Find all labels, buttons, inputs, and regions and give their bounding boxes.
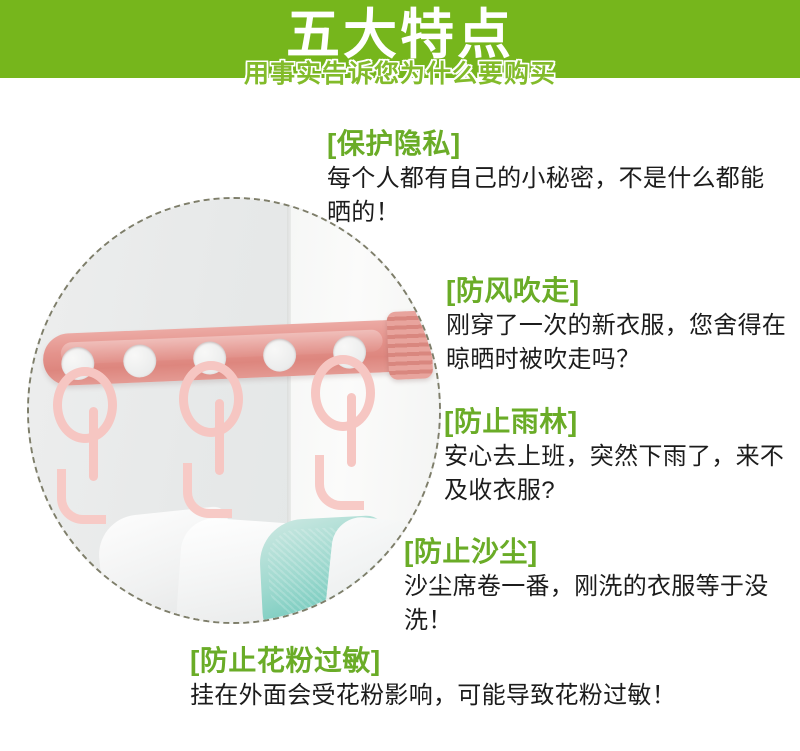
feature-title: [防止雨林] — [444, 404, 794, 440]
feature-block-privacy: [保护隐私] 每个人都有自己的小秘密，不是什么都能晒的！ — [327, 126, 787, 230]
hook-tail-3 — [315, 455, 364, 510]
hook-ring-2 — [179, 361, 243, 437]
feature-body: 挂在外面会受花粉影响，可能导致花粉过敏！ — [190, 679, 790, 713]
hook-ring-1 — [53, 367, 117, 443]
hook-tail-2 — [183, 463, 232, 518]
feature-body: 每个人都有自己的小秘密，不是什么都能晒的！ — [327, 162, 787, 230]
feature-title: [防风吹走] — [446, 273, 796, 309]
promo-page: 五大特点 用事实告诉您为什么要购买 — [0, 0, 800, 751]
hook-ring-3 — [311, 355, 375, 431]
feature-title: [防止沙尘] — [404, 534, 794, 570]
feature-block-windproof: [防风吹走] 刚穿了一次的新衣服，您舍得在晾晒时被吹走吗？ — [446, 273, 796, 377]
feature-block-pollen: [防止花粉过敏] 挂在外面会受花粉影响，可能导致花粉过敏！ — [190, 643, 790, 713]
page-title: 五大特点 — [0, 4, 800, 66]
feature-title: [保护隐私] — [327, 126, 787, 162]
feature-body: 沙尘席卷一番，刚洗的衣服等于没洗！ — [404, 570, 794, 638]
feature-title: [防止花粉过敏] — [190, 643, 790, 679]
feature-body: 安心去上班，突然下雨了，来不及收衣服? — [444, 440, 794, 508]
product-photo-scene — [29, 199, 439, 622]
feature-block-rainproof: [防止雨林] 安心去上班，突然下雨了，来不及收衣服? — [444, 404, 794, 508]
product-photo — [27, 197, 441, 624]
feature-block-dustproof: [防止沙尘] 沙尘席卷一番，刚洗的衣服等于没洗！ — [404, 534, 794, 638]
hanger-hole-4 — [262, 338, 296, 372]
hook-tail-1 — [57, 469, 106, 524]
garment-white-right — [323, 514, 410, 624]
feature-body: 刚穿了一次的新衣服，您舍得在晾晒时被吹走吗？ — [446, 309, 796, 377]
hanger-hole-2 — [123, 344, 157, 378]
page-subtitle: 用事实告诉您为什么要购买 — [0, 58, 800, 90]
hanger-knob — [386, 310, 433, 380]
